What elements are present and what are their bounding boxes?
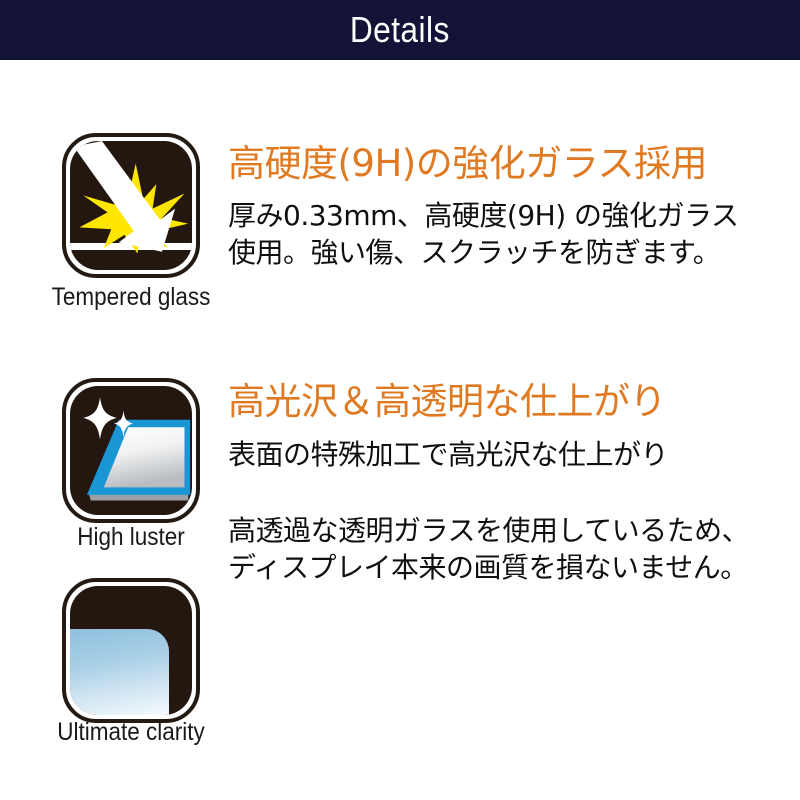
icon-caption-ultimate-clarity: Ultimate clarity [32,718,230,747]
icon-inner-panel [70,141,192,270]
clear-glass-panel [70,629,169,715]
icon-inner-panel [70,586,192,715]
tempered-glass-icon [62,133,200,278]
section-heading-tempered-glass: 高硬度(9H)の強化ガラス採用 [228,133,707,187]
impact-graphic [70,141,192,270]
glossy-screen-graphic [70,386,192,515]
high-luster-icon [62,378,200,523]
icon-frame [62,378,200,523]
details-header-bar: Details [0,0,800,60]
page-title: Details [350,9,450,51]
section-body-tempered-glass: 厚み0.33mm、高硬度(9H) の強化ガラス 使用。強い傷、スクラッチを防ぎま… [228,198,738,272]
section-body-ultimate-clarity: 高透過な透明ガラスを使用しているため、 ディスプレイ本来の画質を損ないません。 [228,513,749,587]
sparkle-large-icon [83,397,117,439]
ultimate-clarity-icon [62,578,200,723]
icon-frame [62,578,200,723]
icon-frame [62,133,200,278]
section-body-high-luster: 表面の特殊加工で高光沢な仕上がり [228,437,668,474]
icon-caption-high-luster: High luster [32,523,230,552]
section-heading-high-luster: 高光沢＆高透明な仕上がり [228,371,666,425]
icon-inner-panel [70,386,192,515]
icon-caption-tempered-glass: Tempered glass [32,283,230,312]
white-impact-arrow [74,141,175,252]
